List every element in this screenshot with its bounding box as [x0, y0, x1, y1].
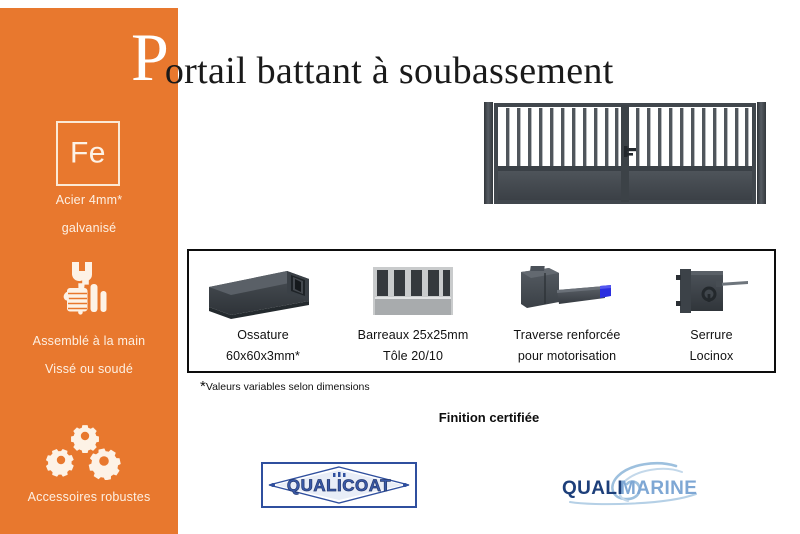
sidebar-label-assemble: Assemblé à la main: [0, 335, 178, 349]
page-title-rest: ortail battant à soubassement: [165, 40, 614, 102]
fe-symbol-label: Fe: [58, 136, 118, 170]
spec-item-serrure: Serrure Locinox: [645, 251, 778, 375]
fe-element-box-icon: Fe: [56, 121, 120, 186]
spec-item-barreaux: Barreaux 25x25mm Tôle 20/10: [337, 251, 489, 375]
qualimarine-logo-text-primary: QUALI: [562, 478, 623, 499]
sidebar-label-acier: Acier 4mm*: [0, 194, 178, 208]
spec-line: 60x60x3mm*: [189, 346, 337, 367]
spec-caption-barreaux: Barreaux 25x25mm Tôle 20/10: [337, 325, 489, 366]
sidebar-block-accessories-labels: Accessoires robustes: [0, 491, 178, 505]
certification-heading: Finition certifiée: [0, 410, 800, 425]
spec-line: Barreaux 25x25mm: [337, 325, 489, 346]
spec-caption-serrure: Serrure Locinox: [645, 325, 778, 366]
spec-item-ossature: Ossature 60x60x3mm*: [189, 251, 337, 375]
spec-line: Serrure: [645, 325, 778, 346]
qualimarine-logo: QUALI MARINE: [556, 458, 716, 510]
bars-and-sheet-panel-icon: [337, 261, 489, 319]
three-gears-icon: [0, 418, 178, 485]
sidebar-label-accessoires: Accessoires robustes: [0, 491, 178, 505]
footnote: *Valeurs variables selon dimensions: [200, 381, 370, 393]
spec-line: Ossature: [189, 325, 337, 346]
spec-line: Locinox: [645, 346, 778, 367]
spec-caption-traverse: Traverse renforcée pour motorisation: [489, 325, 645, 366]
qualicoat-logo: QUALICOAT: [261, 462, 417, 508]
sidebar-label-visse: Vissé ou soudé: [0, 363, 178, 377]
spec-item-traverse: Traverse renforcée pour motorisation: [489, 251, 645, 375]
sidebar-block-assembly-labels: Assemblé à la main Vissé ou soudé: [0, 335, 178, 377]
qualimarine-logo-text-secondary: MARINE: [620, 478, 697, 499]
page-title: Portail battant à soubassement: [131, 26, 618, 88]
footnote-text: Valeurs variables selon dimensions: [206, 381, 370, 393]
sidebar-label-galvanise: galvanisé: [0, 222, 178, 236]
sidebar-block-steel-labels: Acier 4mm* galvanisé: [0, 194, 178, 236]
gate-lock-handle: [624, 146, 636, 157]
page-title-cap: P: [131, 26, 169, 88]
product-sheet-page: Fe Acier 4mm* galvanisé: [0, 0, 800, 534]
double-swing-gate-illustration: [474, 94, 776, 212]
lock-icon: [645, 261, 778, 319]
spec-line: Tôle 20/10: [337, 346, 489, 367]
steel-frame-profile-icon: [189, 261, 337, 319]
hand-holding-wrench-icon: [0, 260, 178, 327]
qualicoat-logo-text: QUALICOAT: [287, 476, 391, 495]
specs-panel: Ossature 60x60x3mm*: [187, 249, 776, 373]
spec-line: Traverse renforcée: [489, 325, 645, 346]
spec-line: pour motorisation: [489, 346, 645, 367]
reinforced-crossbar-motor-icon: [489, 261, 645, 319]
spec-caption-ossature: Ossature 60x60x3mm*: [189, 325, 337, 366]
